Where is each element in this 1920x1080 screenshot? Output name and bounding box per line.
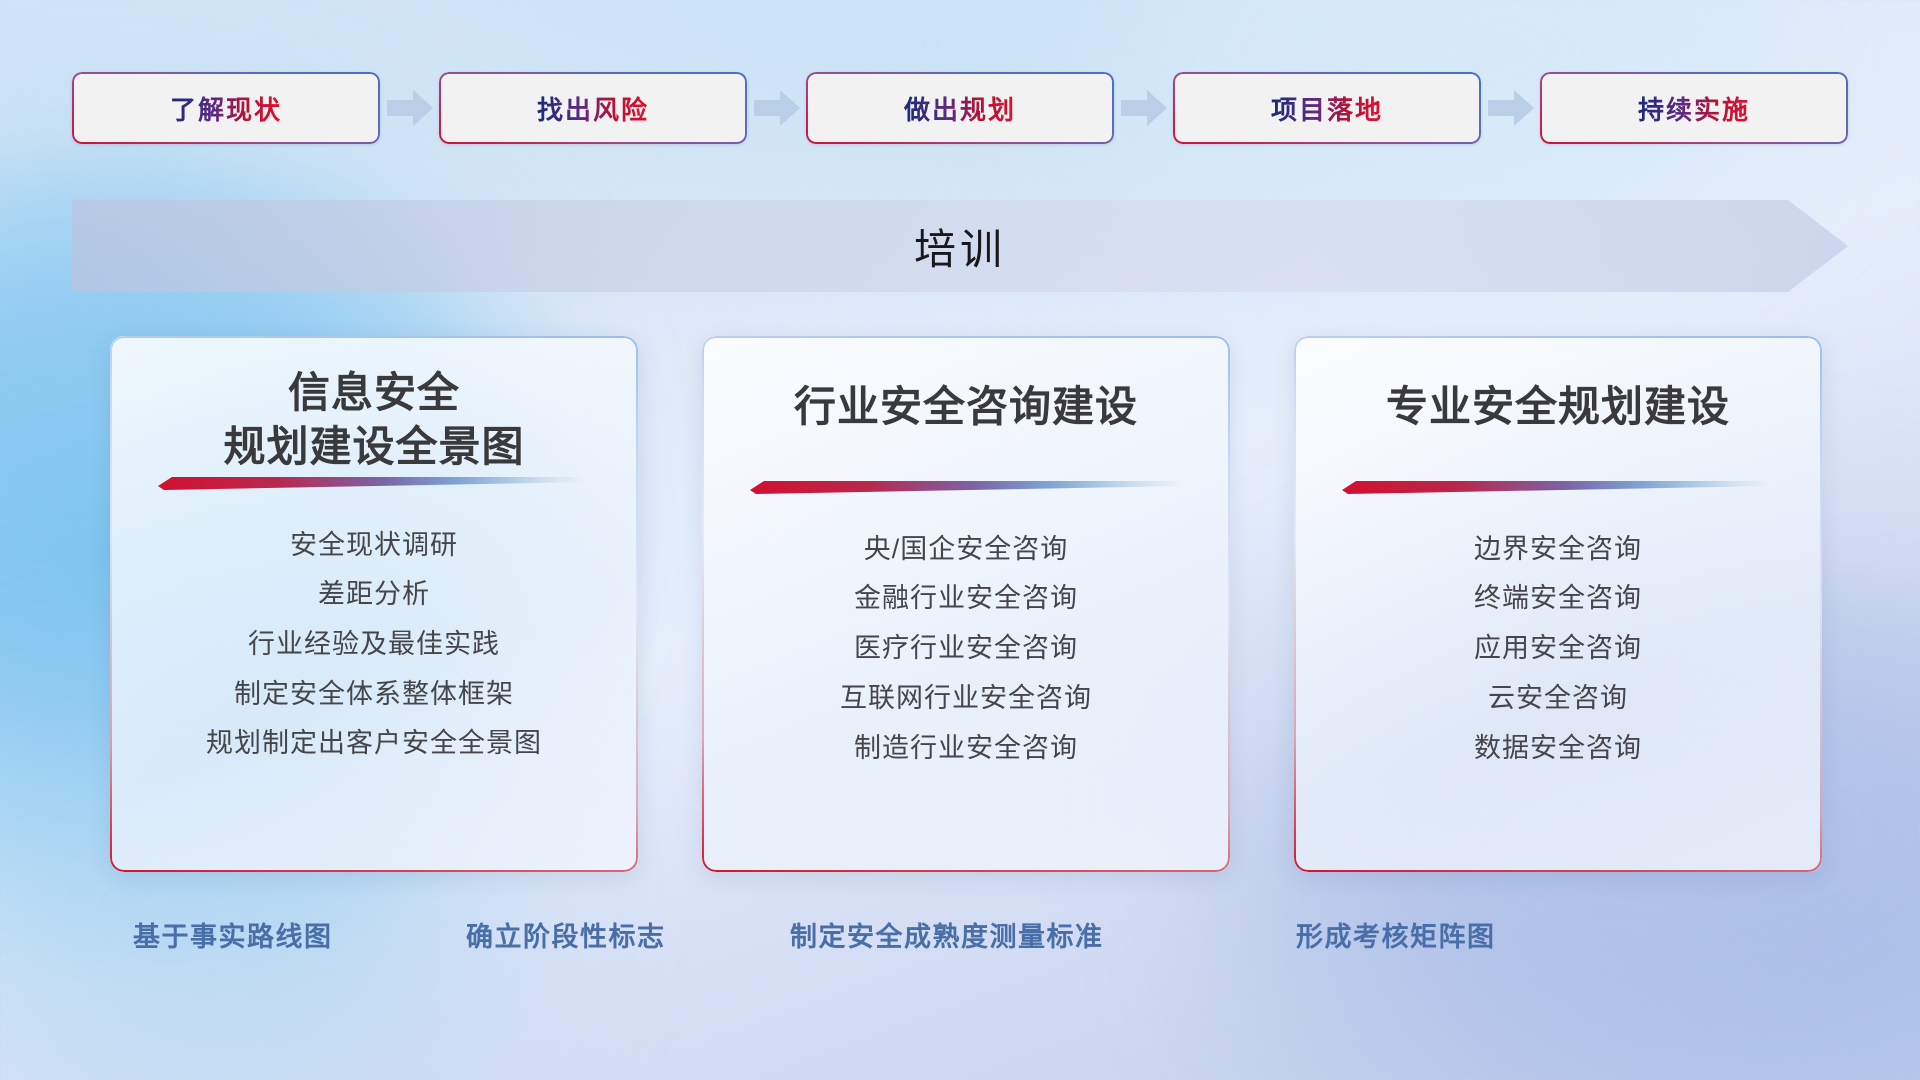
card-list-item: 数据安全咨询 bbox=[1474, 727, 1642, 771]
step-box-5[interactable]: 持续实施 bbox=[1540, 72, 1848, 144]
card-title-2: 行业安全咨询建设 bbox=[702, 380, 1230, 434]
step-label: 了解现状 bbox=[170, 90, 282, 127]
card-item-list-3: 边界安全咨询 终端安全咨询 应用安全咨询 云安全咨询 数据安全咨询 bbox=[1294, 528, 1822, 771]
step-box-4[interactable]: 项目落地 bbox=[1173, 72, 1481, 144]
card-list-item: 差距分析 bbox=[318, 573, 430, 617]
card-list-item: 医疗行业安全咨询 bbox=[854, 627, 1078, 671]
card-list-item: 终端安全咨询 bbox=[1474, 577, 1642, 621]
card-title-3: 专业安全规划建设 bbox=[1294, 380, 1822, 434]
card-item-list-2: 央/国企安全咨询 金融行业安全咨询 医疗行业安全咨询 互联网行业安全咨询 制造行… bbox=[702, 528, 1230, 771]
outcome-label-3: 制定安全成熟度测量标准 bbox=[790, 915, 1104, 954]
card-list-item: 安全现状调研 bbox=[290, 524, 458, 568]
outcome-label-4: 形成考核矩阵图 bbox=[1296, 915, 1496, 954]
step-box-2[interactable]: 找出风险 bbox=[439, 72, 747, 144]
outcome-label-row: 基于事实路线图 确立阶段性标志 制定安全成熟度测量标准 形成考核矩阵图 bbox=[0, 915, 1920, 967]
step-label: 项目落地 bbox=[1271, 90, 1383, 127]
step-label: 持续实施 bbox=[1638, 90, 1750, 127]
capability-card-row: 信息安全 规划建设全景图 bbox=[110, 336, 1822, 872]
card-list-item: 云安全咨询 bbox=[1488, 677, 1628, 721]
card-title-line: 行业安全咨询建设 bbox=[702, 380, 1230, 434]
training-band-title: 培训 bbox=[72, 200, 1848, 292]
card-divider-2 bbox=[750, 478, 1182, 494]
capability-card-2[interactable]: 行业安全咨询建设 bbox=[702, 336, 1230, 872]
step-arrow-icon-4 bbox=[1481, 72, 1540, 144]
card-list-item: 互联网行业安全咨询 bbox=[840, 677, 1092, 721]
card-list-item: 规划制定出客户安全全景图 bbox=[206, 722, 542, 766]
step-label: 做出规划 bbox=[904, 90, 1016, 127]
card-list-item: 制定安全体系整体框架 bbox=[234, 673, 514, 717]
card-list-item: 金融行业安全咨询 bbox=[854, 577, 1078, 621]
card-list-item: 行业经验及最佳实践 bbox=[248, 623, 500, 667]
card-divider-1 bbox=[158, 474, 590, 490]
card-list-item: 制造行业安全咨询 bbox=[854, 727, 1078, 771]
training-band: 培训 bbox=[72, 200, 1848, 292]
step-arrow-icon-1 bbox=[380, 72, 439, 144]
card-list-item: 央/国企安全咨询 bbox=[864, 528, 1069, 572]
capability-card-1[interactable]: 信息安全 规划建设全景图 bbox=[110, 336, 638, 872]
card-divider-3 bbox=[1342, 478, 1774, 494]
process-step-row: 了解现状 找出风险 做出规划 项目落地 持续实施 bbox=[72, 72, 1848, 144]
card-title-line: 规划建设全景图 bbox=[110, 420, 638, 474]
card-item-list-1: 安全现状调研 差距分析 行业经验及最佳实践 制定安全体系整体框架 规划制定出客户… bbox=[110, 524, 638, 767]
step-box-1[interactable]: 了解现状 bbox=[72, 72, 380, 144]
card-list-item: 应用安全咨询 bbox=[1474, 627, 1642, 671]
card-title-line: 信息安全 bbox=[110, 366, 638, 420]
card-title-1: 信息安全 规划建设全景图 bbox=[110, 366, 638, 474]
card-list-item: 边界安全咨询 bbox=[1474, 528, 1642, 572]
step-arrow-icon-2 bbox=[747, 72, 806, 144]
step-arrow-icon-3 bbox=[1114, 72, 1173, 144]
capability-card-3[interactable]: 专业安全规划建设 bbox=[1294, 336, 1822, 872]
outcome-label-1: 基于事实路线图 bbox=[133, 915, 333, 954]
outcome-label-2: 确立阶段性标志 bbox=[466, 915, 666, 954]
step-label: 找出风险 bbox=[537, 90, 649, 127]
card-title-line: 专业安全规划建设 bbox=[1294, 380, 1822, 434]
step-box-3[interactable]: 做出规划 bbox=[806, 72, 1114, 144]
